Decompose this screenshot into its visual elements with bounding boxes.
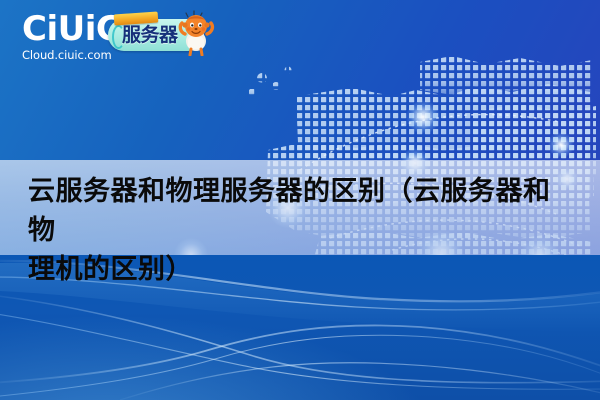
server-badge[interactable]: 服务器 — [108, 19, 204, 51]
page-title: 云服务器和物理服务器的区别（云服务器和物 理机的区别） — [28, 172, 573, 289]
page-title-line-1: 云服务器和物理服务器的区别（云服务器和物 — [28, 172, 573, 250]
cover-image: 云服务器和物理服务器的区别（云服务器和物 理机的区别） CiUiC Cloud.… — [0, 0, 600, 400]
logo-domain: Cloud.ciuic.com — [22, 49, 132, 62]
mascot-icon — [176, 10, 218, 56]
server-badge-label: 服务器 — [122, 24, 178, 46]
page-title-line-2: 理机的区别） — [28, 250, 573, 289]
